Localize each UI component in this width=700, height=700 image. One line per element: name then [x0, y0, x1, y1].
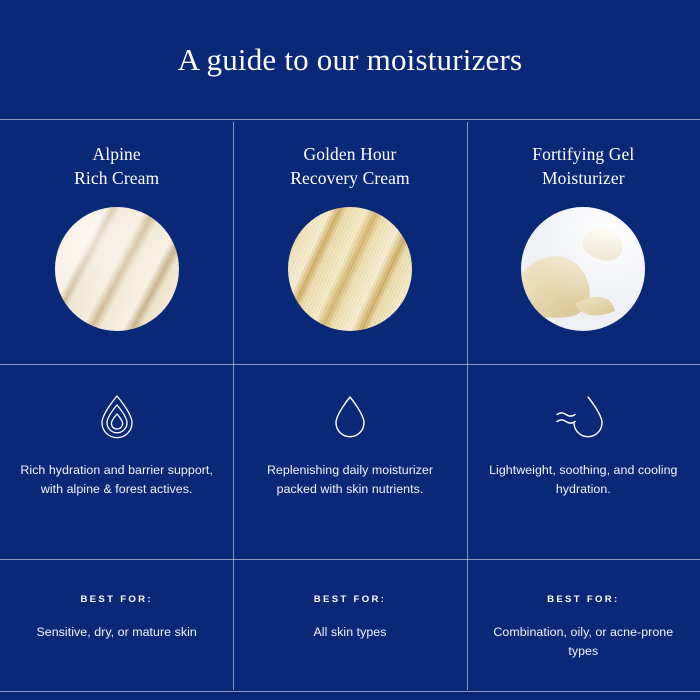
golden-cream-texture-swatch	[288, 207, 412, 331]
product-column-alpine-rich-cream: Alpine Rich Cream Rich hydration and bar…	[0, 119, 233, 700]
best-for-label: BEST FOR:	[547, 594, 619, 605]
moisturizer-guide-infographic: A guide to our moisturizers Alpine Rich …	[0, 0, 700, 700]
product-columns: Alpine Rich Cream Rich hydration and bar…	[0, 119, 700, 700]
best-for-cell: BEST FOR: All skin types	[233, 559, 466, 700]
cream-texture-swatch	[55, 207, 179, 331]
droplet-with-waves-icon	[552, 390, 614, 444]
product-description: Lightweight, soothing, and cooling hydra…	[483, 461, 683, 499]
product-name-line2: Rich Cream	[74, 168, 159, 188]
product-name: Alpine Rich Cream	[74, 142, 159, 190]
product-description: Replenishing daily moisturizer packed wi…	[250, 461, 450, 499]
droplet-icon	[319, 390, 381, 444]
product-name-line1: Fortifying Gel	[532, 144, 634, 164]
gel-droplet-large	[521, 252, 593, 324]
best-for-cell: BEST FOR: Sensitive, dry, or mature skin	[0, 559, 233, 700]
product-name-line1: Alpine	[93, 144, 141, 164]
best-for-label: BEST FOR:	[80, 594, 152, 605]
product-name: Golden Hour Recovery Cream	[290, 142, 409, 190]
best-for-label: BEST FOR:	[314, 594, 386, 605]
nested-droplet-icon	[86, 390, 148, 444]
best-for-value: All skin types	[313, 623, 386, 642]
product-description: Rich hydration and barrier support, with…	[17, 461, 217, 499]
product-benefit-cell: Replenishing daily moisturizer packed wi…	[233, 364, 466, 559]
product-name: Fortifying Gel Moisturizer	[532, 142, 634, 190]
product-name-line2: Moisturizer	[542, 168, 625, 188]
gel-droplet-small	[580, 223, 626, 264]
product-name-line1: Golden Hour	[304, 144, 397, 164]
best-for-value: Sensitive, dry, or mature skin	[36, 623, 196, 642]
product-column-fortifying-gel-moisturizer: Fortifying Gel Moisturizer Lightweight,	[467, 119, 700, 700]
gel-droplets-swatch	[521, 207, 645, 331]
page-title: A guide to our moisturizers	[178, 41, 523, 78]
product-name-line2: Recovery Cream	[290, 168, 409, 188]
best-for-value: Combination, oily, or acne-prone types	[481, 623, 686, 660]
product-header-cell: Alpine Rich Cream	[0, 119, 233, 364]
product-header-cell: Fortifying Gel Moisturizer	[467, 119, 700, 364]
product-header-cell: Golden Hour Recovery Cream	[233, 119, 466, 364]
best-for-cell: BEST FOR: Combination, oily, or acne-pro…	[467, 559, 700, 700]
title-bar: A guide to our moisturizers	[0, 0, 700, 119]
product-column-golden-hour-recovery-cream: Golden Hour Recovery Cream Replenishing …	[233, 119, 466, 700]
product-benefit-cell: Lightweight, soothing, and cooling hydra…	[467, 364, 700, 559]
product-benefit-cell: Rich hydration and barrier support, with…	[0, 364, 233, 559]
